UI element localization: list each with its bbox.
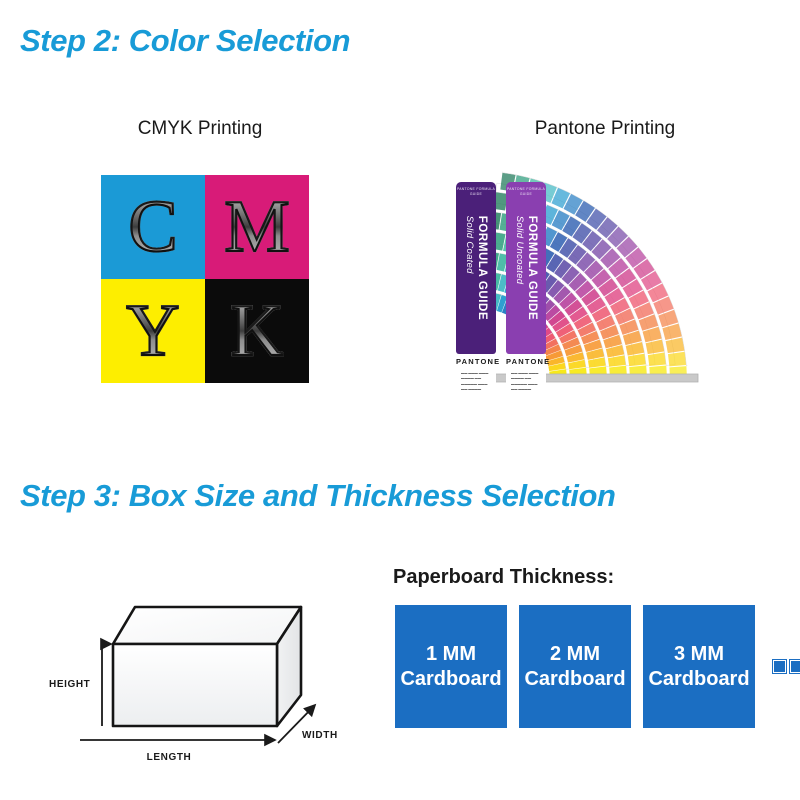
thickness-material-1mm: Cardboard — [400, 668, 501, 691]
cover-top-code-uncoated: PANTONE FORMULA GUIDE — [506, 187, 546, 197]
cmyk-letter-m: M — [224, 190, 290, 264]
cmyk-cell-yellow: Y — [101, 279, 205, 383]
cmyk-cell-black: K — [205, 279, 309, 383]
pantone-color-chip — [673, 291, 694, 310]
cover-title-coated: FORMULA GUIDE — [476, 216, 488, 320]
pantone-caption: Pantone Printing — [475, 118, 735, 140]
pantone-logo-coated: PANTONE — [456, 357, 496, 366]
step-2-heading: Step 2: Color Selection — [20, 23, 350, 59]
pantone-color-chip — [507, 160, 524, 173]
guide-footer-uncoated: PANTONE ▬▬ ▬▬▬ ▬▬▬▬▬▬▬ ▬▬▬▬▬▬▬ ▬▬▬▬▬ ▬▬▬… — [506, 354, 546, 388]
ellipsis-square — [773, 660, 786, 673]
box-dimension-diagram: HEIGHT LENGTH WIDTH — [35, 583, 360, 768]
pantone-color-chip — [576, 178, 597, 200]
cmyk-cell-magenta: M — [205, 175, 309, 279]
pantone-color-chip — [563, 171, 583, 192]
pantone-color-chip — [660, 263, 682, 283]
cover-subtitle-uncoated: Solid Uncoated — [514, 216, 525, 320]
step-3-heading: Step 3: Box Size and Thickness Selection — [20, 478, 616, 514]
guide-footer-coated: PANTONE ▬▬ ▬▬▬ ▬▬▬▬▬▬▬ ▬▬▬▬▬▬▬ ▬▬▬▬▬ ▬▬▬… — [456, 354, 496, 388]
deck-base — [470, 374, 698, 382]
thickness-value-2mm: 2 MM — [550, 643, 600, 666]
pantone-fan-deck: PANTONE FORMULA GUIDE FORMULA GUIDE Soli… — [448, 160, 748, 390]
width-label: WIDTH — [302, 730, 338, 741]
pantone-color-chip — [643, 237, 665, 258]
thickness-option-1mm[interactable]: 1 MM Cardboard — [395, 605, 507, 728]
guide-footnote-coated: ▬▬ ▬▬▬ ▬▬▬▬▬▬▬ ▬▬▬▬▬▬▬ ▬▬▬▬▬ ▬▬▬▬ — [456, 371, 496, 393]
cover-subtitle-coated: Solid Coated — [464, 216, 475, 320]
thickness-value-1mm: 1 MM — [426, 643, 476, 666]
box-face-top — [113, 607, 301, 644]
thickness-material-2mm: Cardboard — [524, 668, 625, 691]
pantone-color-chip — [686, 336, 705, 353]
pantone-color-chip — [678, 306, 698, 324]
cmyk-swatch-grid: C M Y K — [101, 175, 309, 383]
length-label: LENGTH — [147, 752, 192, 763]
guide-footnote-uncoated: ▬▬ ▬▬▬ ▬▬▬▬▬▬▬ ▬▬▬▬▬▬▬ ▬▬▬▬▬ ▬▬▬▬ — [506, 371, 546, 393]
thickness-material-3mm: Cardboard — [648, 668, 749, 691]
pantone-logo-uncoated: PANTONE — [506, 357, 546, 366]
cmyk-letter-k: K — [230, 294, 283, 368]
height-label: HEIGHT — [49, 679, 90, 690]
cmyk-letter-y: Y — [126, 294, 179, 368]
pantone-color-chip — [682, 321, 702, 339]
slide-canvas: Step 2: Color Selection CMYK Printing C … — [0, 0, 800, 800]
thickness-more-ellipsis-icon[interactable] — [773, 660, 800, 673]
pantone-color-chip — [589, 186, 610, 208]
cmyk-cell-cyan: C — [101, 175, 205, 279]
ellipsis-square — [790, 660, 800, 673]
box-face-front — [113, 644, 277, 726]
formula-guide-solid-uncoated: PANTONE FORMULA GUIDE FORMULA GUIDE Soli… — [506, 182, 546, 354]
pantone-color-chip — [652, 250, 674, 271]
thickness-option-2mm[interactable]: 2 MM Cardboard — [519, 605, 631, 728]
thickness-value-3mm: 3 MM — [674, 643, 724, 666]
pantone-color-chip — [688, 351, 706, 367]
pantone-color-chip — [667, 277, 688, 297]
cmyk-caption: CMYK Printing — [70, 118, 330, 140]
pantone-color-chip — [668, 352, 686, 367]
pantone-color-chip — [601, 194, 622, 216]
cover-title-uncoated: FORMULA GUIDE — [526, 216, 538, 320]
pantone-color-chip — [536, 160, 554, 180]
pantone-color-chip — [522, 160, 540, 176]
thickness-options-row: 1 MM Cardboard 2 MM Cardboard 3 MM Cardb… — [395, 605, 800, 728]
thickness-option-3mm[interactable]: 3 MM Cardboard — [643, 605, 755, 728]
cover-top-code-coated: PANTONE FORMULA GUIDE — [456, 187, 496, 197]
paperboard-thickness-title: Paperboard Thickness: — [393, 566, 614, 589]
cmyk-letter-c: C — [128, 190, 177, 264]
pantone-color-chip — [549, 165, 568, 186]
formula-guide-solid-coated: PANTONE FORMULA GUIDE FORMULA GUIDE Soli… — [456, 182, 496, 354]
